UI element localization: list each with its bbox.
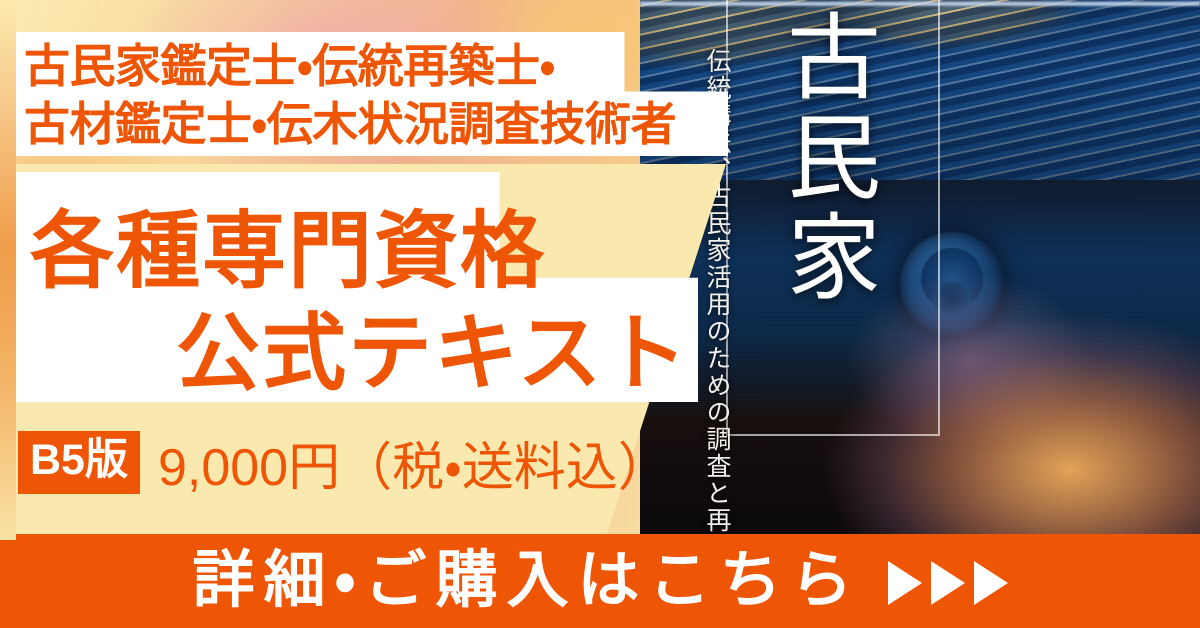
triangle-right-icon [931, 561, 965, 605]
triangle-right-icon [888, 561, 922, 605]
triangle-right-icon [974, 561, 1008, 605]
cta-arrow-group [888, 561, 1008, 605]
left-edge-strip [0, 0, 16, 540]
headline-line-2: 古材鑑定士・伝木状況調査技術者 [24, 96, 728, 154]
format-badge: B5版 [18, 431, 140, 493]
price-amount: 9,000円（税・送料込） [158, 425, 670, 500]
cta-bar[interactable]: 詳細・ご購入はこちら [0, 534, 1200, 628]
promo-banner: 伝統構法、古民家活用のための調査と再生の 古民家 古民家鑑定士・伝統再築士・ 古… [0, 0, 1200, 628]
headline-line-1: 古民家鑑定士・伝統再築士・ [24, 38, 728, 96]
price-row: B5版 9,000円（税・送料込） [18, 425, 670, 500]
headline-text-group: 古民家鑑定士・伝統再築士・ 古材鑑定士・伝木状況調査技術者 [14, 32, 728, 156]
title-line-2: 公式テキスト [176, 286, 689, 407]
cta-label: 詳細・ご購入はこちら [192, 550, 861, 612]
book-cover-title: 古民家 [772, 8, 880, 308]
